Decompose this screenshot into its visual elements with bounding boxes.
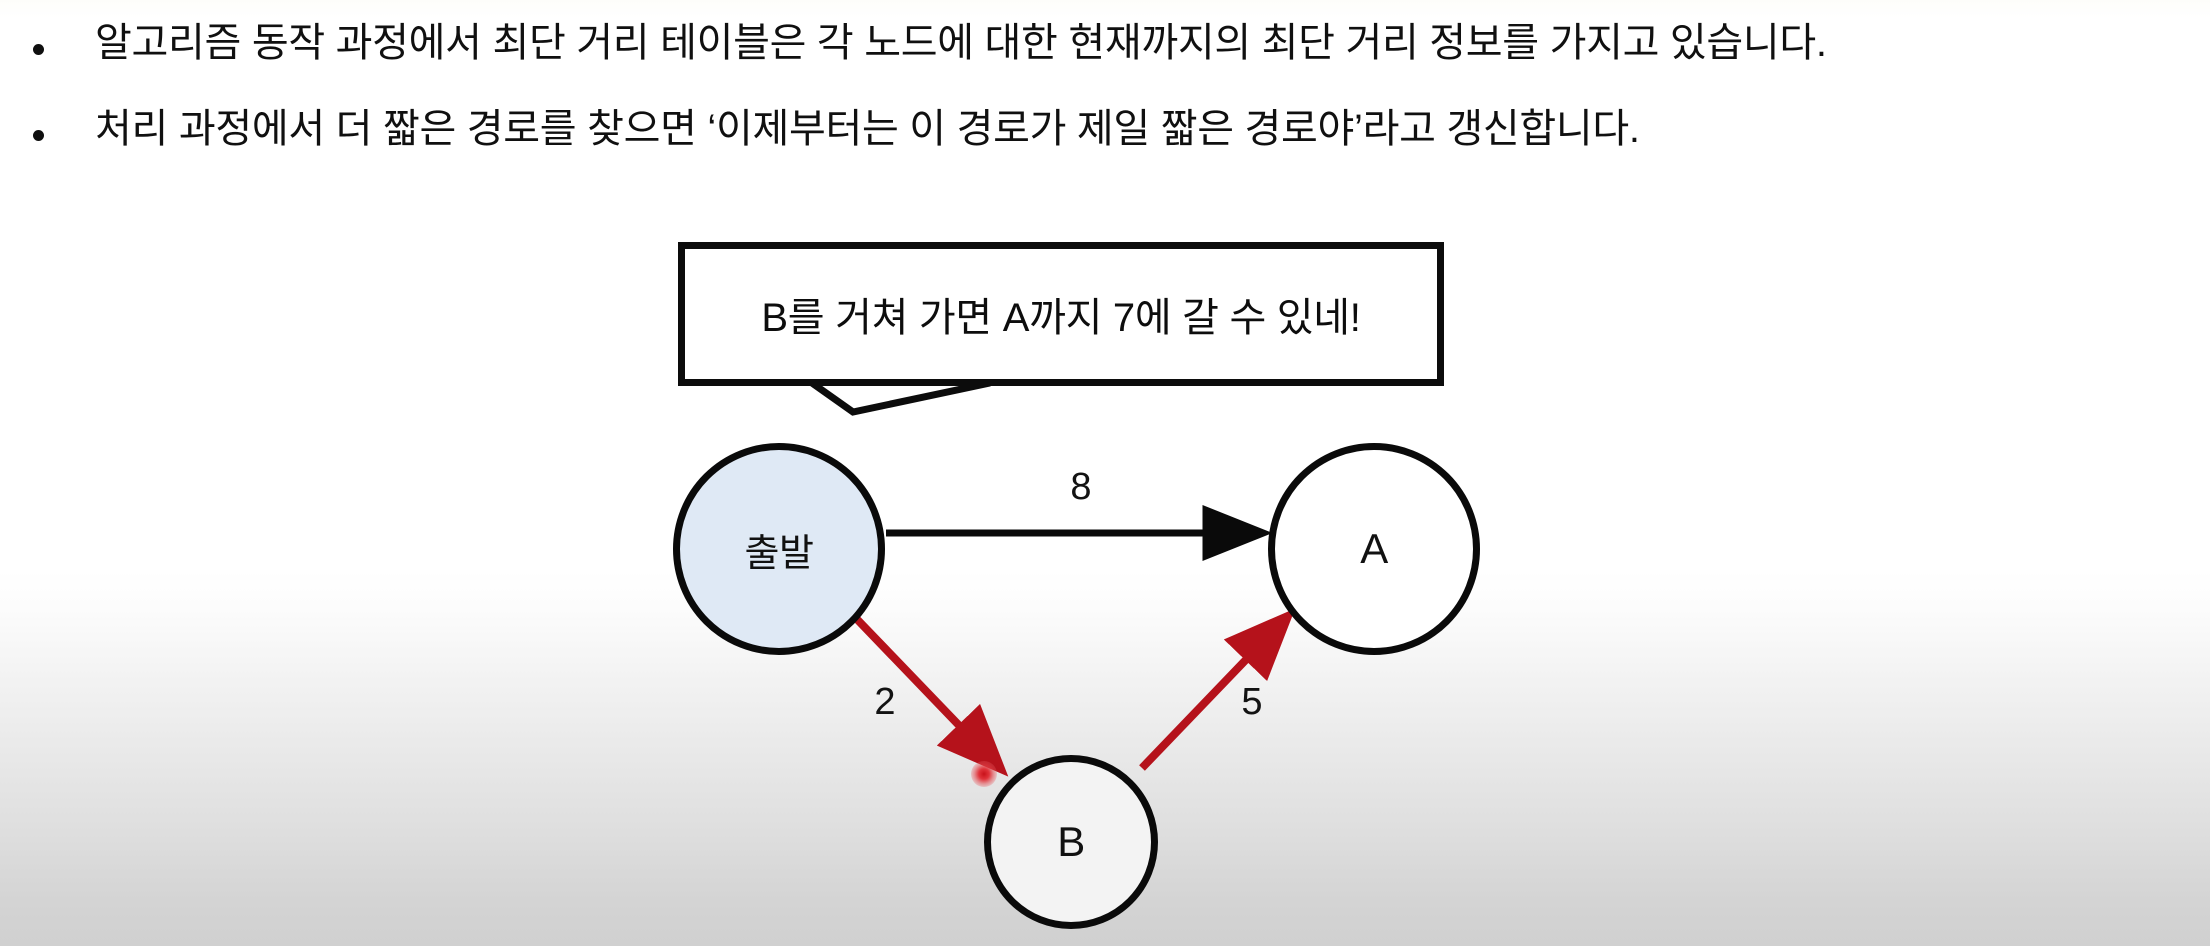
graph-node-start[interactable]: 출발 xyxy=(673,443,885,655)
edge-weight-b-to-a: 5 xyxy=(1222,681,1282,724)
graph-node-b[interactable]: B xyxy=(984,755,1158,929)
speech-bubble-text: B를 거쳐 가면 A까지 7에 갈 수 있네! xyxy=(761,285,1360,343)
speech-bubble: B를 거쳐 가면 A까지 7에 갈 수 있네! xyxy=(678,242,1444,386)
graph-node-start-label: 출발 xyxy=(745,522,814,577)
speech-bubble-tail xyxy=(812,383,990,412)
edge-weight-start-to-b: 2 xyxy=(855,681,915,724)
slide-canvas: 알고리즘 동작 과정에서 최단 거리 테이블은 각 노드에 대한 현재까지의 최… xyxy=(0,0,2210,946)
graph-node-a[interactable]: A xyxy=(1268,443,1480,655)
edge-weight-start-to-a: 8 xyxy=(1051,466,1111,509)
graph-node-a-label: A xyxy=(1360,525,1388,573)
graph-node-b-label: B xyxy=(1057,818,1085,866)
